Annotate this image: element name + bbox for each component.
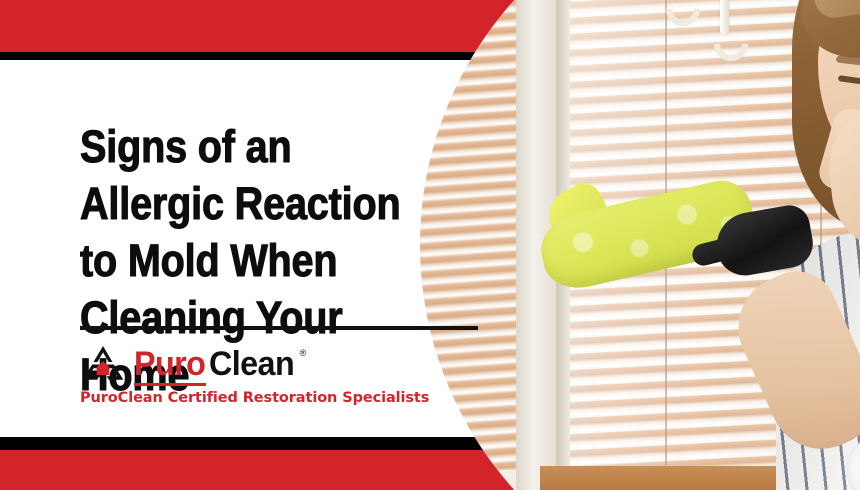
- brand-tagline: PuroClean Certified Restoration Speciali…: [80, 390, 429, 406]
- brand-logo[interactable]: Puro Clean ®: [80, 344, 306, 384]
- wordmark-underline: [134, 383, 206, 386]
- registered-trademark-icon: ®: [300, 349, 307, 358]
- wordmark-clean: Clean: [209, 347, 294, 381]
- divider-rule: [80, 326, 478, 330]
- wordmark-puro: Puro: [134, 347, 205, 381]
- blog-header-banner: Signs of an Allergic Reaction to Mold Wh…: [0, 0, 860, 490]
- puroclean-triangle-house-icon: [80, 344, 126, 384]
- brand-wordmark: Puro Clean ®: [134, 347, 306, 381]
- text-column: Signs of an Allergic Reaction to Mold Wh…: [0, 0, 500, 490]
